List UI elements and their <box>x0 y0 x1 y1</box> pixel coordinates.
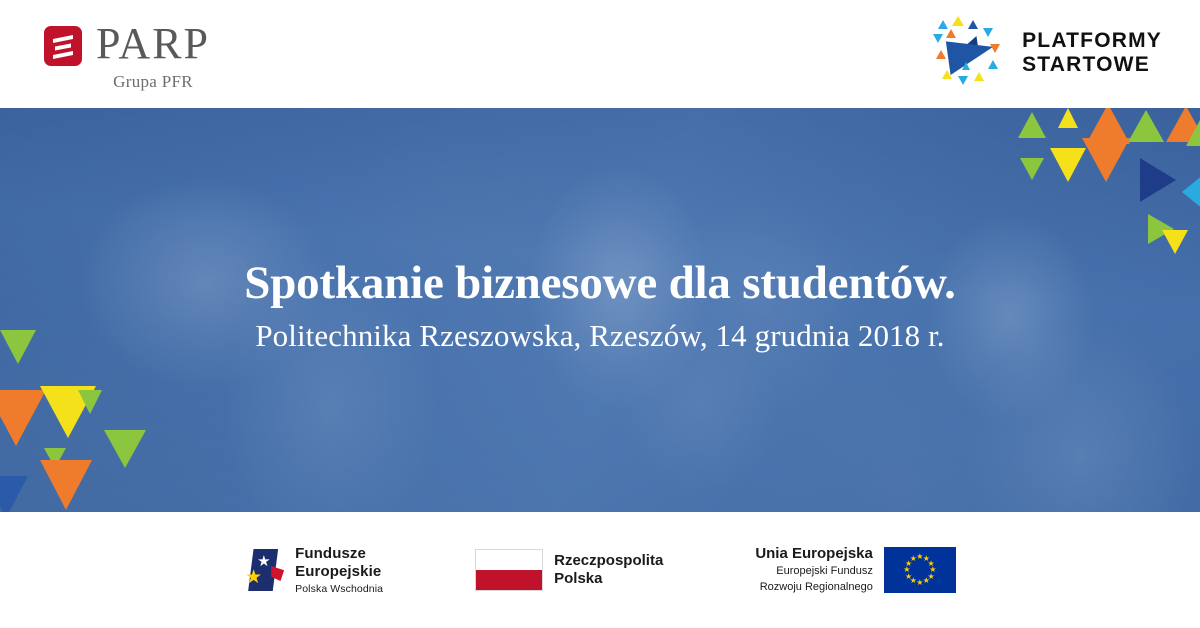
fe-line-3: Polska Wschodnia <box>295 583 383 595</box>
ps-line-2: STARTOWE <box>1022 53 1162 77</box>
fundusze-europejskie-logo-icon: ★ ★ <box>244 549 284 591</box>
platformy-startowe-wordmark: PLATFORMY STARTOWE <box>1022 29 1162 76</box>
top-logo-bar: PARP Grupa PFR PLATFORMY STARTOWE <box>0 0 1200 108</box>
rp-line-1: Rzeczpospolita <box>554 552 663 570</box>
eu-flag-icon: ★★★★★★★★★★★★ <box>884 547 956 593</box>
platformy-startowe-logo[interactable]: PLATFORMY STARTOWE <box>932 14 1162 92</box>
parp-logo-text: PARP Grupa PFR <box>96 22 210 92</box>
hero-text-block: Spotkanie biznesowe dla studentów. Polit… <box>0 108 1200 512</box>
parp-logo[interactable]: PARP Grupa PFR <box>44 22 210 92</box>
parp-stripes-icon <box>44 26 82 66</box>
unia-europejska-logo: Unia Europejska Europejski Fundusz Rozwo… <box>755 545 956 594</box>
rzeczpospolita-text: Rzeczpospolita Polska <box>554 552 663 587</box>
eu-funding-footer: ★ ★ Fundusze Europejskie Polska Wschodni… <box>0 512 1200 628</box>
rp-line-2: Polska <box>554 570 663 588</box>
paper-plane-icon <box>932 14 1010 92</box>
fundusze-europejskie-text: Fundusze Europejskie Polska Wschodnia <box>295 545 383 595</box>
fe-line-1: Fundusze <box>295 545 383 562</box>
fe-line-2: Europejskie <box>295 563 383 580</box>
polish-flag-icon <box>475 549 543 591</box>
parp-tagline: Grupa PFR <box>96 72 210 92</box>
fundusze-europejskie-logo: ★ ★ Fundusze Europejskie Polska Wschodni… <box>244 545 383 595</box>
rzeczpospolita-polska-logo: Rzeczpospolita Polska <box>475 549 663 591</box>
eu-line-1: Unia Europejska <box>755 545 873 563</box>
page-title: Spotkanie biznesowe dla studentów. <box>244 258 955 310</box>
hero-banner: Spotkanie biznesowe dla studentów. Polit… <box>0 108 1200 512</box>
ps-line-1: PLATFORMY <box>1022 29 1162 53</box>
eu-line-3: Rozwoju Regionalnego <box>755 581 873 595</box>
parp-wordmark: PARP <box>96 22 210 66</box>
page-subtitle: Politechnika Rzeszowska, Rzeszów, 14 gru… <box>255 318 944 354</box>
unia-europejska-text: Unia Europejska Europejski Fundusz Rozwo… <box>755 545 873 594</box>
eu-line-2: Europejski Fundusz <box>755 565 873 579</box>
